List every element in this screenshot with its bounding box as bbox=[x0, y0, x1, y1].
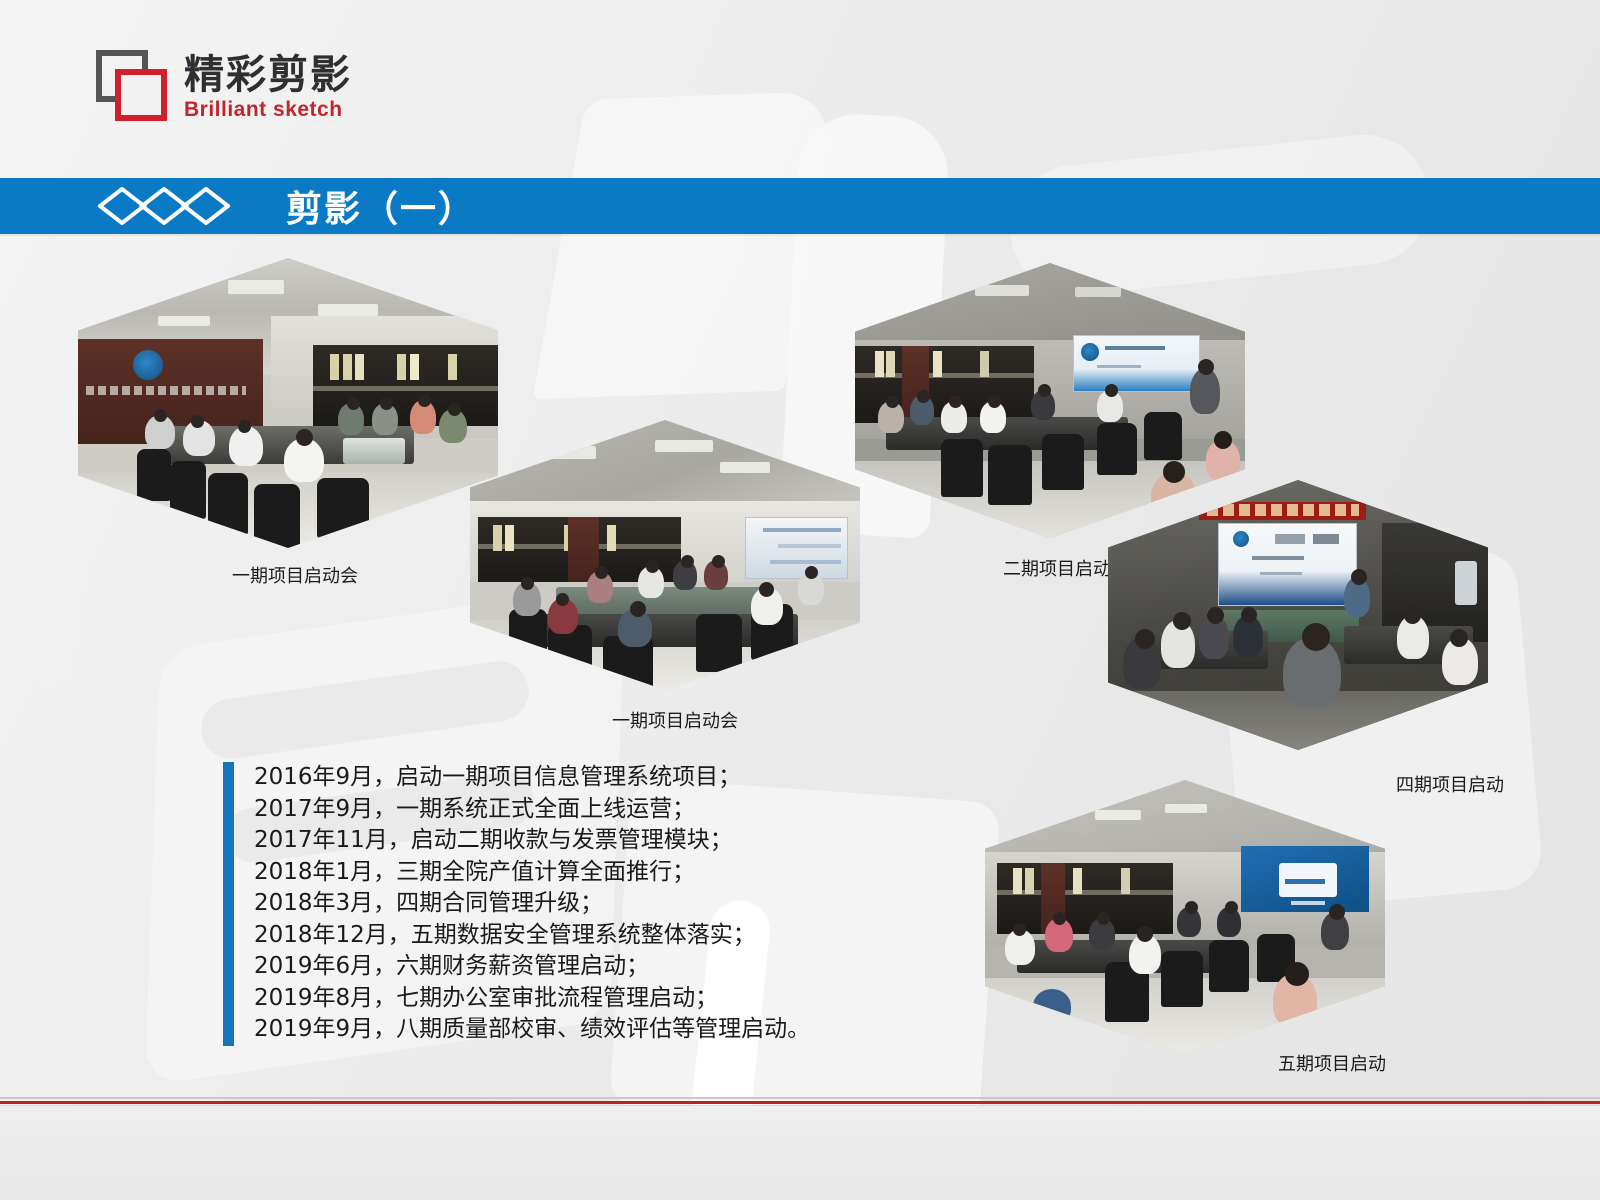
timeline-item: 2016年9月，启动一期项目信息管理系统项目； bbox=[254, 762, 810, 794]
timeline-item: 2019年8月，七期办公室审批流程管理启动； bbox=[254, 983, 810, 1015]
photo-caption-4: 四期项目启动 bbox=[1396, 771, 1504, 797]
timeline-item: 2017年11月，启动二期收款与发票管理模块； bbox=[254, 825, 810, 857]
timeline-block: 2016年9月，启动一期项目信息管理系统项目； 2017年9月，一期系统正式全面… bbox=[223, 762, 810, 1046]
footer-area bbox=[0, 1106, 1600, 1200]
timeline-item: 2018年3月，四期合同管理升级； bbox=[254, 888, 810, 920]
triple-diamond-icon bbox=[98, 187, 230, 225]
logo-title-cn: 精彩剪影 bbox=[184, 53, 352, 97]
slide-root: 精彩剪影 Brilliant sketch 剪影（一） bbox=[0, 0, 1600, 1200]
photo-hexagon-3 bbox=[855, 263, 1245, 538]
photo-caption-3: 二期项目启动 bbox=[1003, 555, 1111, 581]
timeline-item: 2017年9月，一期系统正式全面上线运营； bbox=[254, 794, 810, 826]
page-title: 剪影（一） bbox=[286, 180, 476, 232]
photo-caption-1: 一期项目启动会 bbox=[232, 562, 358, 588]
timeline-item: 2018年12月，五期数据安全管理系统整体落实； bbox=[254, 920, 810, 952]
section-banner: 剪影（一） bbox=[0, 178, 1600, 234]
timeline-accent-bar bbox=[223, 762, 234, 1046]
background-watermark-shape bbox=[533, 91, 838, 400]
photo-caption-2: 一期项目启动会 bbox=[612, 707, 738, 733]
photo-hexagon-2 bbox=[470, 420, 860, 690]
photo-hexagon-5 bbox=[985, 780, 1385, 1055]
timeline-item: 2018年1月，三期全院产值计算全面推行； bbox=[254, 857, 810, 889]
timeline-item: 2019年6月，六期财务薪资管理启动； bbox=[254, 951, 810, 983]
background-watermark-shape bbox=[197, 657, 532, 762]
brand-logo: 精彩剪影 Brilliant sketch bbox=[96, 50, 352, 124]
logo-title-en: Brilliant sketch bbox=[184, 99, 352, 121]
footer-divider-red bbox=[0, 1101, 1600, 1104]
overlapping-squares-icon bbox=[96, 50, 170, 124]
photo-caption-5: 五期项目启动 bbox=[1278, 1050, 1386, 1076]
timeline-lines: 2016年9月，启动一期项目信息管理系统项目； 2017年9月，一期系统正式全面… bbox=[254, 762, 810, 1046]
footer-divider-gray bbox=[0, 1097, 1600, 1099]
photo-hexagon-4 bbox=[1108, 480, 1488, 750]
timeline-item: 2019年9月，八期质量部校审、绩效评估等管理启动。 bbox=[254, 1014, 810, 1046]
photo-hexagon-1 bbox=[78, 258, 498, 548]
